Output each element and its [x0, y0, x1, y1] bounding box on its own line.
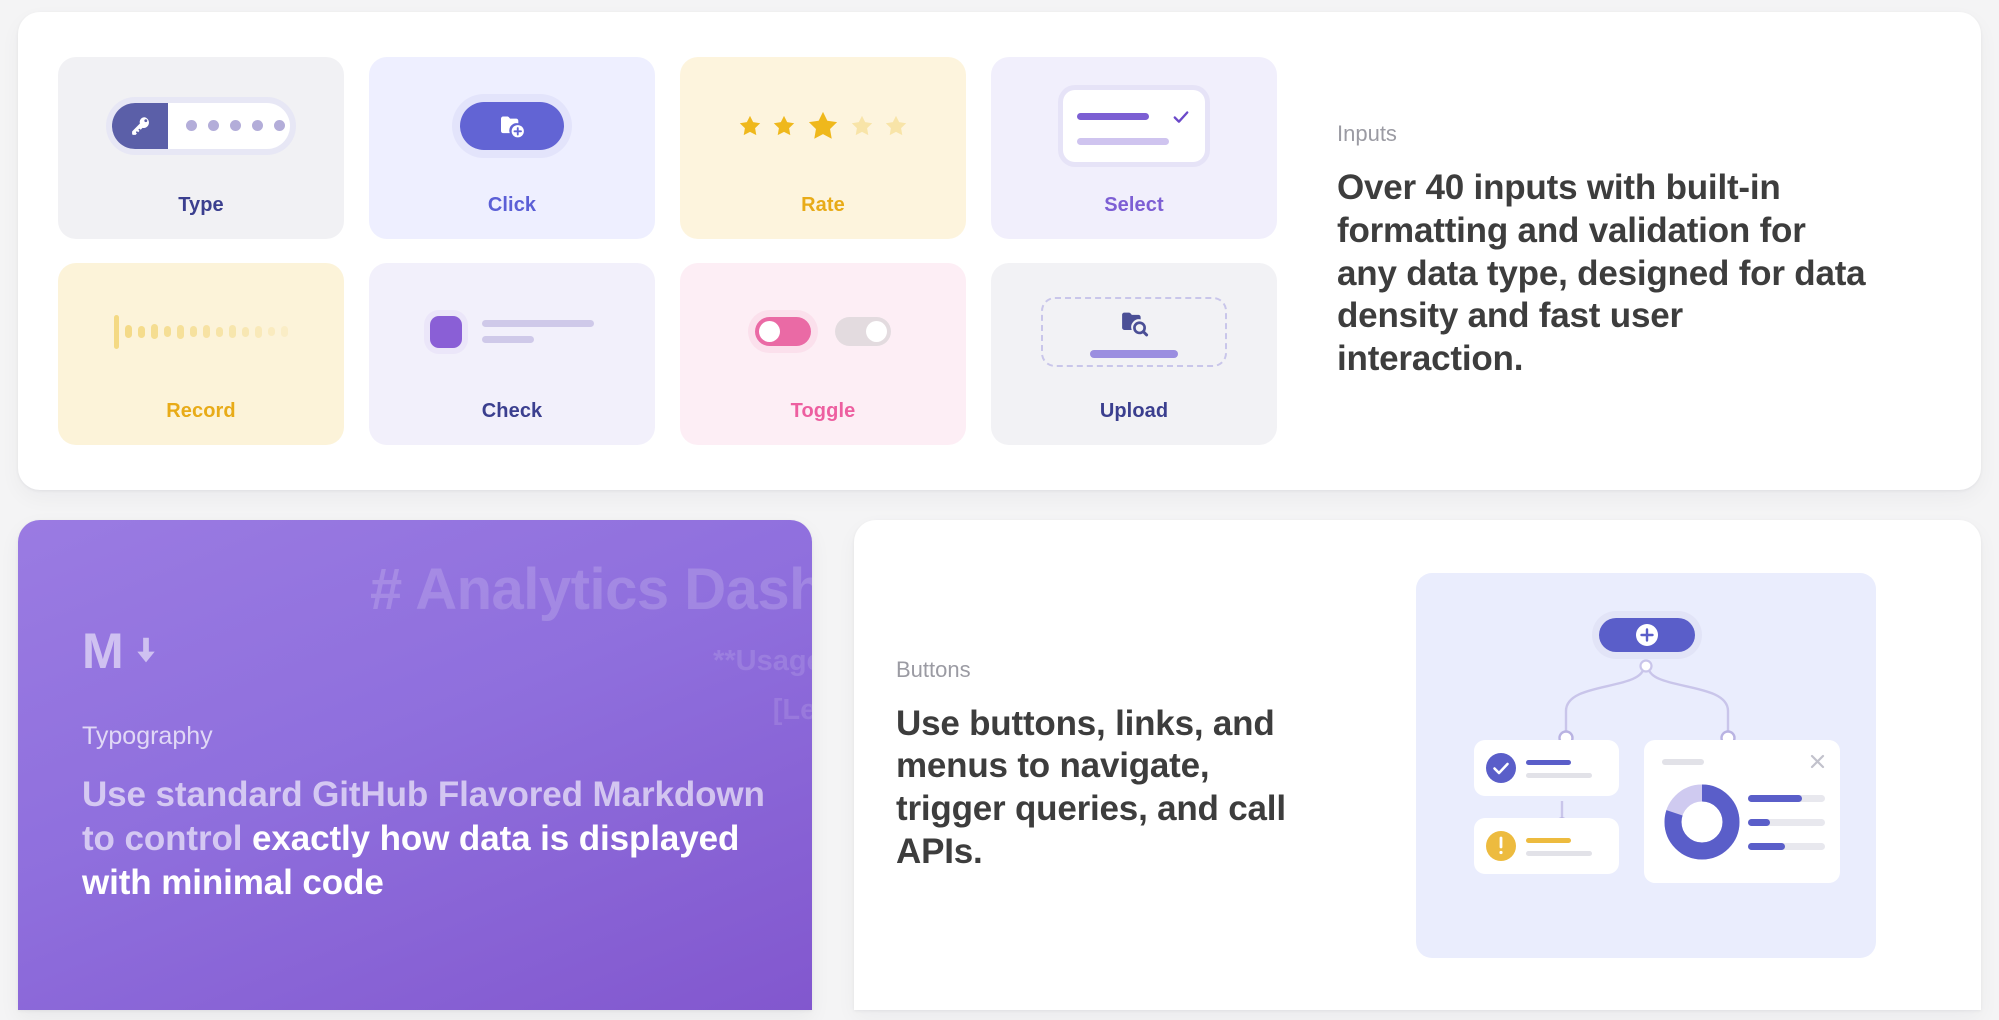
tile-type[interactable]: Type [58, 57, 344, 239]
tile-click[interactable]: Click [369, 57, 655, 239]
buttons-headline: Use buttons, links, and menus to navigat… [896, 703, 1316, 874]
inputs-copy: Inputs Over 40 inputs with built-in form… [1277, 121, 1877, 380]
markdown-logo-letter: M [82, 626, 124, 676]
select-illustration [991, 57, 1277, 194]
folder-search-icon [1117, 306, 1151, 340]
toast-warning [1474, 818, 1619, 874]
tile-label: Type [178, 194, 224, 239]
modal-title-bar [1662, 759, 1704, 765]
tile-rate[interactable]: Rate [680, 57, 966, 239]
tile-label: Record [166, 400, 236, 445]
check-label-lines [482, 320, 594, 343]
buttons-copy: Buttons Use buttons, links, and menus to… [896, 657, 1326, 874]
select-dropdown[interactable] [1063, 90, 1205, 162]
rate-illustration [680, 57, 966, 194]
buttons-illustration-wrap [1354, 573, 1937, 958]
inputs-headline: Over 40 inputs with built-in formatting … [1337, 167, 1867, 380]
tile-label: Upload [1100, 400, 1168, 445]
toast-success [1474, 740, 1619, 796]
upload-illustration [991, 263, 1277, 400]
buttons-eyebrow: Buttons [896, 657, 1326, 683]
type-illustration [58, 57, 344, 194]
input-tile-grid: Type Click [58, 57, 1277, 445]
typography-card: # Analytics Dashboard **Usage and adopti… [18, 520, 812, 1010]
modal-panel [1644, 740, 1840, 883]
tile-label: Select [1104, 194, 1164, 239]
tile-select[interactable]: Select [991, 57, 1277, 239]
select-option-selected [1077, 113, 1149, 120]
folder-plus-icon [497, 111, 527, 141]
star-icon[interactable] [771, 113, 797, 139]
star-icon[interactable] [849, 113, 875, 139]
buttons-illustration [1416, 573, 1876, 958]
inputs-eyebrow: Inputs [1337, 121, 1867, 147]
password-dots [168, 120, 290, 131]
down-arrow-icon [128, 630, 164, 672]
click-button[interactable] [460, 102, 564, 150]
check-illustration [369, 263, 655, 400]
watermark-heading: # Analytics Dashboard [370, 556, 812, 623]
tile-toggle[interactable]: Toggle [680, 263, 966, 445]
click-illustration [369, 57, 655, 194]
toggle-icon-on[interactable] [755, 317, 811, 346]
upload-filename-bar [1090, 350, 1178, 358]
key-icon [112, 103, 168, 149]
select-option [1077, 138, 1169, 145]
tile-label: Click [488, 194, 536, 239]
tile-label: Check [482, 400, 543, 445]
inputs-panel: Type Click [18, 12, 1981, 490]
tile-label: Toggle [791, 400, 856, 445]
star-icon[interactable] [805, 108, 841, 144]
markdown-arrow-icon: M [82, 626, 812, 676]
toggle-icon-off[interactable] [835, 317, 891, 346]
typography-headline: Use standard GitHub Flavored Markdown to… [82, 773, 772, 905]
waveform-icon [114, 312, 288, 352]
password-field[interactable] [112, 103, 290, 149]
upload-dropzone[interactable] [1041, 297, 1227, 367]
typography-eyebrow: Typography [82, 722, 812, 751]
toggle-illustration [680, 263, 966, 400]
page-root: Type Click [0, 0, 1999, 1020]
primary-button [1592, 611, 1702, 659]
record-illustration [58, 263, 344, 400]
tile-label: Rate [801, 194, 845, 239]
star-rating[interactable] [737, 108, 909, 144]
checkmark-icon [1171, 107, 1191, 127]
buttons-card: Buttons Use buttons, links, and menus to… [854, 520, 1981, 1010]
check-circle-icon [1486, 753, 1516, 783]
bottom-row: # Analytics Dashboard **Usage and adopti… [18, 520, 1981, 1010]
tile-upload[interactable]: Upload [991, 263, 1277, 445]
star-icon[interactable] [737, 113, 763, 139]
tile-check[interactable]: Check [369, 263, 655, 445]
tile-record[interactable]: Record [58, 263, 344, 445]
checkbox-icon[interactable] [430, 316, 462, 348]
star-icon[interactable] [883, 113, 909, 139]
